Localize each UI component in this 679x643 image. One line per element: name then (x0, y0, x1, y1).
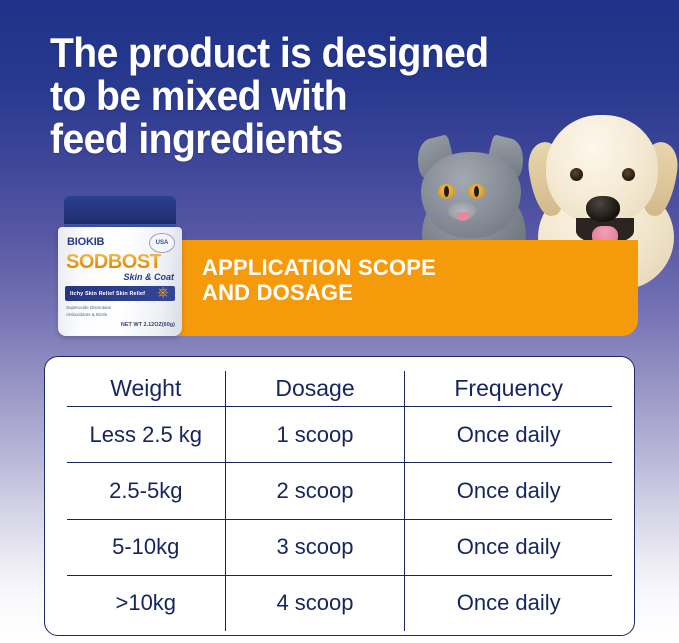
dog-eye-left (570, 168, 583, 181)
table-row: >10kg 4 scoop Once daily (67, 575, 612, 631)
cell-dosage: 2 scoop (225, 463, 405, 519)
cell-frequency: Once daily (405, 463, 612, 519)
cat-mouth (457, 212, 469, 221)
usa-seal-icon: USA (149, 233, 175, 253)
cell-dosage: 3 scoop (225, 519, 405, 575)
cell-frequency: Once daily (405, 407, 612, 463)
cell-weight: Less 2.5 kg (67, 407, 225, 463)
jar-lid (64, 196, 176, 230)
section-banner: APPLICATION SCOPE AND DOSAGE (158, 240, 638, 336)
jar-label: BIOKIB USA SODBOST Skin & Coat Itchy Ski… (58, 227, 182, 336)
dog-nose (586, 196, 620, 222)
banner-line-1: APPLICATION SCOPE (202, 256, 436, 281)
section-banner-title: APPLICATION SCOPE AND DOSAGE (202, 256, 436, 305)
jar-product-name: SODBOST (66, 251, 161, 274)
jar-net-weight: NET WT 2.12OZ(60g) (121, 322, 175, 328)
banner-line-2: AND DOSAGE (202, 281, 436, 306)
cell-dosage: 4 scoop (225, 575, 405, 631)
dog-eye-right (622, 168, 635, 181)
column-header-weight: Weight (67, 371, 225, 407)
dosage-table-card: Weight Dosage Frequency Less 2.5 kg 1 sc… (44, 356, 635, 636)
column-header-frequency: Frequency (405, 371, 612, 407)
jar-subtitle: Skin & Coat (123, 272, 174, 282)
dosage-table: Weight Dosage Frequency Less 2.5 kg 1 sc… (67, 371, 612, 631)
molecule-icon: ⎈ (154, 283, 172, 303)
cell-frequency: Once daily (405, 519, 612, 575)
jar-brand-name: BIOKIB (67, 236, 104, 248)
jar-ingredients: Superoxide Dismutase Antioxidants & Biot… (66, 305, 136, 319)
cell-weight: >10kg (67, 575, 225, 631)
cat-eye-right (468, 184, 485, 199)
table-row: 5-10kg 3 scoop Once daily (67, 519, 612, 575)
column-header-dosage: Dosage (225, 371, 405, 407)
cell-dosage: 1 scoop (225, 407, 405, 463)
cell-weight: 2.5-5kg (67, 463, 225, 519)
table-row: Less 2.5 kg 1 scoop Once daily (67, 407, 612, 463)
cell-weight: 5-10kg (67, 519, 225, 575)
product-jar: BIOKIB USA SODBOST Skin & Coat Itchy Ski… (58, 196, 182, 336)
table-row: 2.5-5kg 2 scoop Once daily (67, 463, 612, 519)
cell-frequency: Once daily (405, 575, 612, 631)
table-header-row: Weight Dosage Frequency (67, 371, 612, 407)
cat-eye-left (438, 184, 455, 199)
